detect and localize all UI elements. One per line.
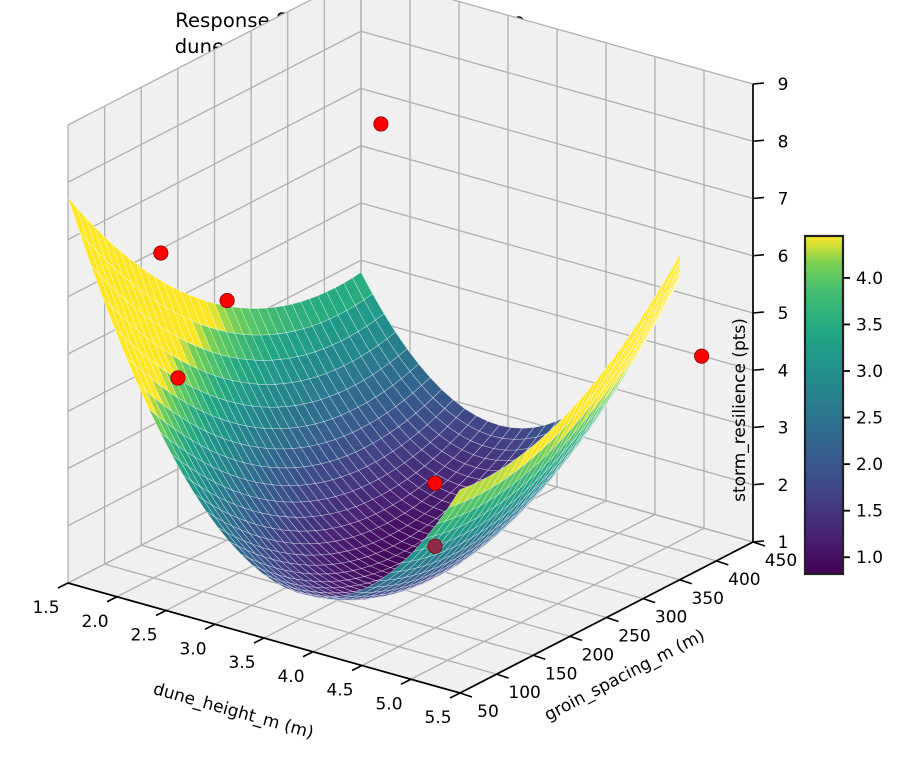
scatter-point — [428, 539, 442, 553]
scatter-point — [220, 293, 234, 307]
ytick-label: 450 — [765, 551, 797, 571]
colorbar-ticks: 1.01.52.02.53.03.54.0 — [843, 269, 883, 568]
scatter-point — [171, 371, 185, 385]
xtick-label: 3.0 — [179, 639, 206, 659]
ytick-label: 400 — [728, 570, 760, 590]
ytick-label: 150 — [545, 664, 577, 684]
ytick-label: 50 — [477, 702, 499, 722]
xtick-label: 4.5 — [326, 681, 353, 701]
xtick-label: 4.0 — [277, 667, 304, 687]
ytick-label: 100 — [508, 683, 540, 703]
ztick-label: 1 — [778, 533, 789, 553]
surface-plot-3d: 1.52.02.53.03.54.04.55.05.55010015020025… — [0, 0, 902, 775]
ytick-label: 250 — [618, 627, 650, 647]
xtick-label: 1.5 — [32, 598, 59, 618]
ztick-label: 8 — [778, 132, 789, 152]
ztick-label: 3 — [778, 419, 789, 439]
colorbar-tick-label: 3.5 — [856, 315, 883, 335]
x-axis-label: dune_height_m (m) — [151, 679, 316, 743]
colorbar-tick-label: 4.0 — [856, 269, 883, 289]
colorbar-tick-label: 1.5 — [856, 502, 883, 522]
ztick-label: 2 — [778, 476, 789, 496]
xtick-label: 2.5 — [130, 626, 157, 646]
xtick-label: 3.5 — [228, 653, 255, 673]
colorbar-tick-label: 3.0 — [856, 362, 883, 382]
scatter-point — [154, 246, 168, 260]
ztick-label: 5 — [778, 304, 789, 324]
ztick-label: 6 — [778, 247, 789, 267]
ytick-label: 200 — [582, 645, 614, 665]
ztick-label: 7 — [778, 190, 789, 210]
colorbar-tick-label: 1.0 — [856, 548, 883, 568]
colorbar-gradient — [805, 236, 843, 574]
scatter-point — [428, 476, 442, 490]
colorbar-tick-label: 2.5 — [856, 409, 883, 429]
scatter-point — [694, 349, 708, 363]
ytick-label: 350 — [692, 589, 724, 609]
xtick-label: 2.0 — [81, 612, 108, 632]
colorbar-tick-label: 2.0 — [856, 455, 883, 475]
scatter-point — [374, 117, 388, 131]
xtick-label: 5.5 — [424, 708, 451, 728]
ytick-label: 300 — [655, 608, 687, 628]
xtick-label: 5.0 — [375, 694, 402, 714]
colorbar-axis-label: storm_resilience (pts) — [730, 318, 750, 502]
ztick-label: 9 — [778, 75, 789, 95]
figure-canvas: Response Surface: storm_resilience dune_… — [0, 0, 902, 775]
ztick-label: 4 — [778, 361, 789, 381]
